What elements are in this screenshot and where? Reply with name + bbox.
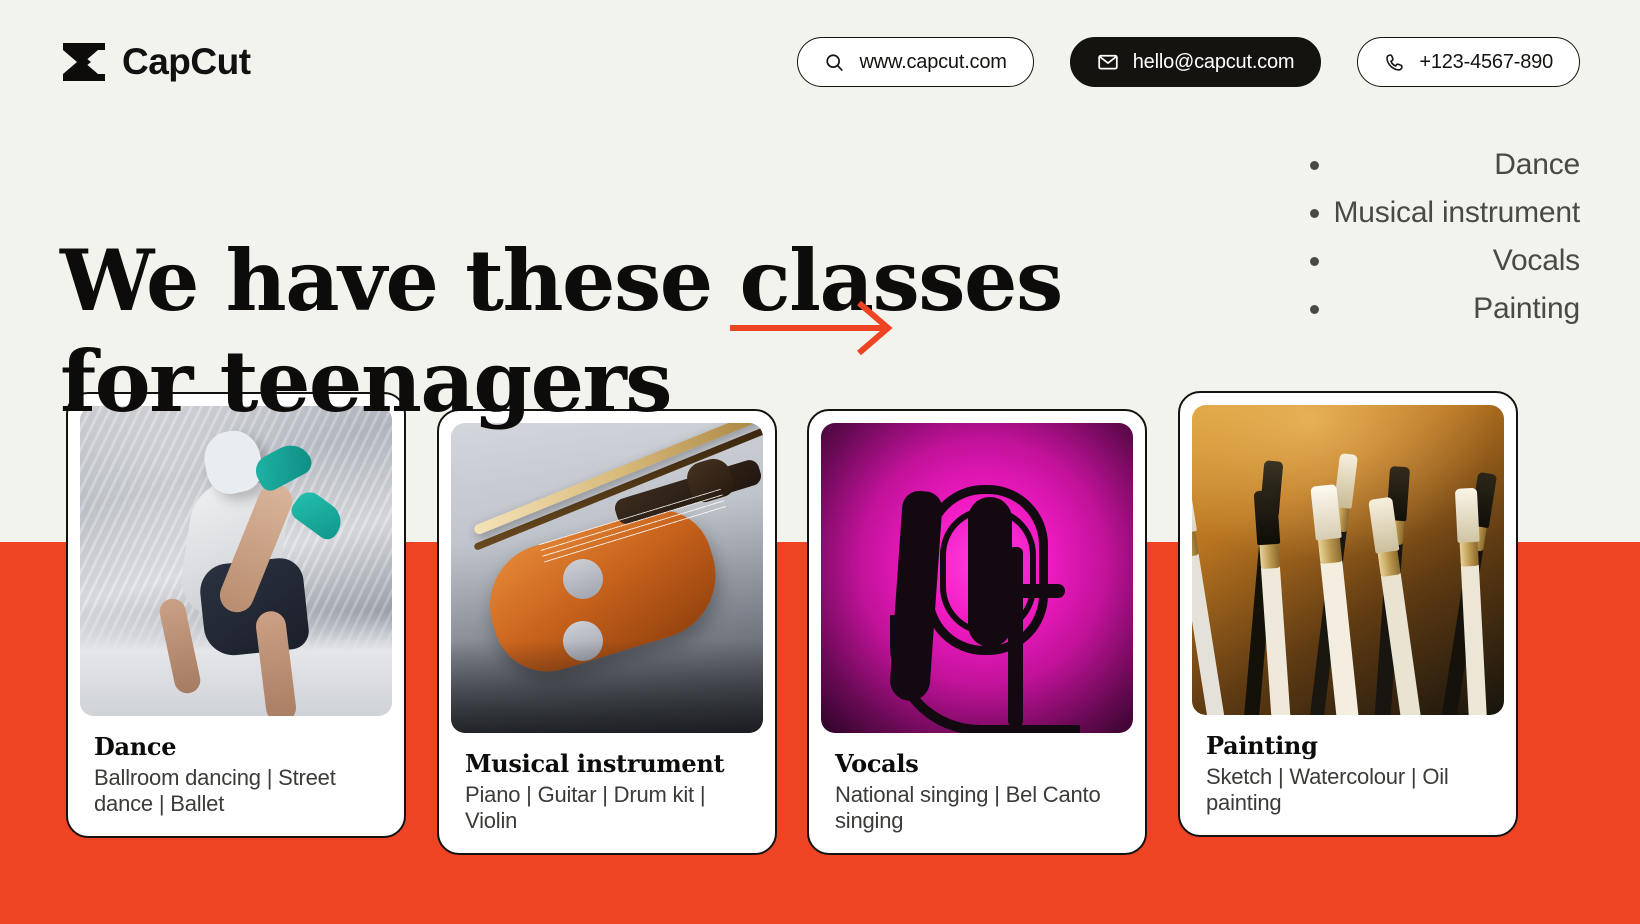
card-title: Vocals (835, 749, 1133, 778)
website-label: www.capcut.com (859, 51, 1006, 74)
search-icon (824, 52, 845, 73)
email-pill[interactable]: hello@capcut.com (1070, 37, 1322, 87)
phone-label: +123-4567-890 (1419, 51, 1553, 74)
headline-text: We have these classes for teenagers (60, 231, 1062, 432)
email-label: hello@capcut.com (1133, 51, 1295, 74)
page-header: CapCut www.capcut.com hello@capcut.com +… (0, 0, 1640, 124)
card-description: Sketch | Watercolour | Oil painting (1206, 764, 1496, 817)
website-pill[interactable]: www.capcut.com (797, 37, 1033, 87)
card-description: Piano | Guitar | Drum kit | Violin (465, 782, 755, 835)
category-item-painting[interactable]: Painting (1334, 290, 1580, 328)
phone-icon (1384, 52, 1405, 73)
hero-section: We have these classes for teenagers Danc… (60, 128, 1580, 535)
arrow-right-icon[interactable] (728, 300, 898, 356)
card-title: Painting (1206, 731, 1504, 760)
category-list: Dance Musical instrument Vocals Painting (1334, 128, 1580, 328)
card-description: National singing | Bel Canto singing (835, 782, 1125, 835)
mail-icon (1097, 51, 1119, 73)
category-item-musical[interactable]: Musical instrument (1334, 194, 1580, 232)
brand-logo[interactable]: CapCut (60, 40, 251, 84)
phone-pill[interactable]: +123-4567-890 (1357, 37, 1580, 87)
category-item-dance[interactable]: Dance (1334, 146, 1580, 184)
page-title: We have these classes for teenagers (60, 128, 1062, 535)
category-item-vocals[interactable]: Vocals (1334, 242, 1580, 280)
card-description: Ballroom dancing | Street dance | Ballet (94, 765, 384, 818)
card-title: Dance (94, 732, 392, 761)
brand-name: CapCut (122, 41, 251, 83)
capcut-logo-icon (60, 40, 108, 84)
contact-links: www.capcut.com hello@capcut.com +123-456… (797, 37, 1580, 87)
card-title: Musical instrument (465, 749, 763, 778)
